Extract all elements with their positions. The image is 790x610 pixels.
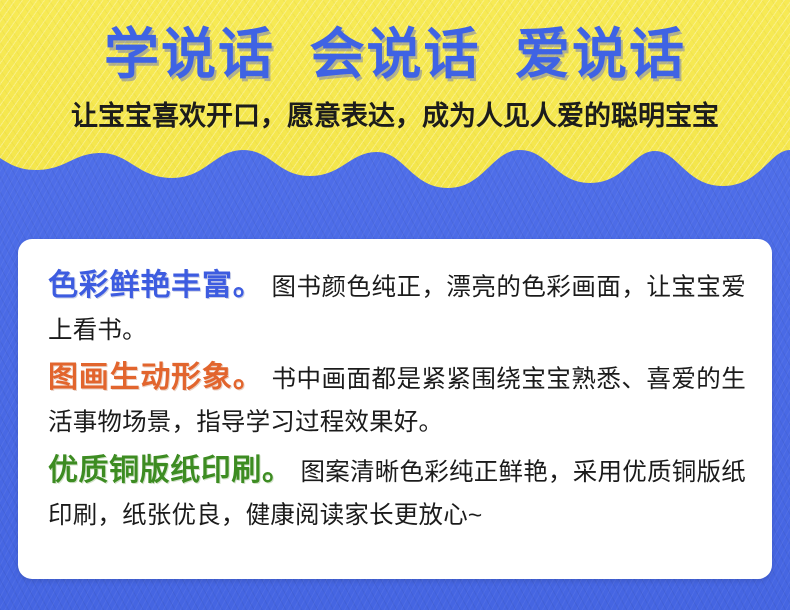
features-card: 色彩鲜艳丰富。图书颜色纯正，漂亮的色彩画面，让宝宝爱上看书。 图画生动形象。书中… [18,239,772,579]
feature-paragraph-2: 图画生动形象。书中画面都是紧紧围绕宝宝熟悉、喜爱的生活事物场景，指导学习过程效果… [48,353,746,443]
feature-item-1: 色彩鲜艳丰富。图书颜色纯正，漂亮的色彩画面，让宝宝爱上看书。 [48,261,746,351]
promo-poster: 学说话 会说话 爱说话 让宝宝喜欢开口，愿意表达，成为人见人爱的聪明宝宝 色彩鲜… [0,0,790,610]
page-title: 学说话 会说话 爱说话 [0,24,790,86]
feature-lead-2: 图画生动形象。 [48,361,264,394]
page-subtitle: 让宝宝喜欢开口，愿意表达，成为人见人爱的聪明宝宝 [0,99,790,134]
feature-lead-3: 优质铜版纸印刷。 [48,454,292,487]
feature-paragraph-3: 优质铜版纸印刷。图案清晰色彩纯正鲜艳，采用优质铜版纸印刷，纸张优良，健康阅读家长… [48,446,746,536]
feature-lead-1: 色彩鲜艳丰富。 [48,269,264,302]
feature-item-2: 图画生动形象。书中画面都是紧紧围绕宝宝熟悉、喜爱的生活事物场景，指导学习过程效果… [48,353,746,443]
feature-item-3: 优质铜版纸印刷。图案清晰色彩纯正鲜艳，采用优质铜版纸印刷，纸张优良，健康阅读家长… [48,446,746,536]
feature-paragraph-1: 色彩鲜艳丰富。图书颜色纯正，漂亮的色彩画面，让宝宝爱上看书。 [48,261,746,351]
